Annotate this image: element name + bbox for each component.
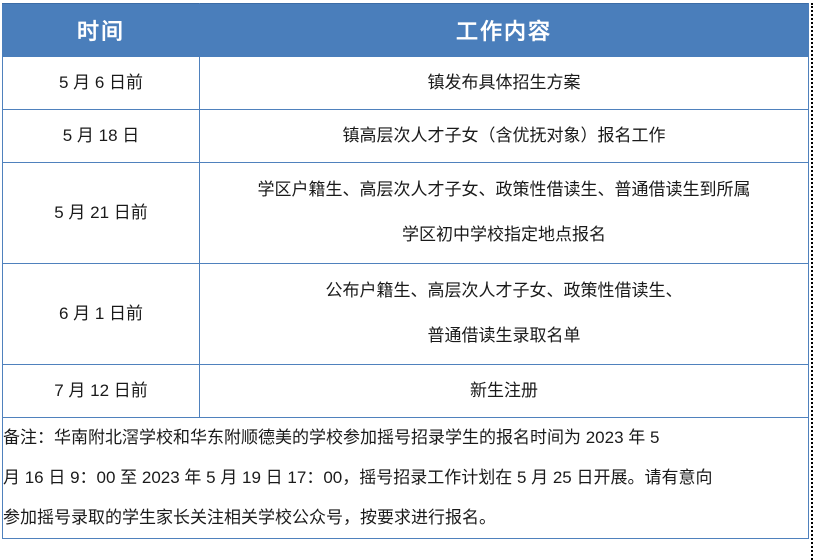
cell-content-line: 镇高层次人才子女（含优抚对象）报名工作 xyxy=(200,125,808,148)
column-header-content: 工作内容 xyxy=(200,4,809,57)
cell-content-line: 学区户籍生、高层次人才子女、政策性借读生、普通借读生到所属 xyxy=(200,179,808,202)
document-page: 时间 工作内容 5 月 6 日前 镇发布具体招生方案 5 月 18 日 镇高层次… xyxy=(0,3,813,560)
cell-time: 5 月 21 日前 xyxy=(3,163,200,264)
table-row: 5 月 18 日 镇高层次人才子女（含优抚对象）报名工作 xyxy=(3,110,809,163)
remark-line: 备注：华南附北滘学校和华东附顺德美的学校参加摇号招录学生的报名时间为 2023 … xyxy=(3,427,808,449)
table-row: 5 月 6 日前 镇发布具体招生方案 xyxy=(3,57,809,110)
table-row: 7 月 12 日前 新生注册 xyxy=(3,365,809,418)
cell-time: 6 月 1 日前 xyxy=(3,264,200,365)
cell-content-line: 镇发布具体招生方案 xyxy=(200,72,808,95)
remark-note: 备注：华南附北滘学校和华东附顺德美的学校参加摇号招录学生的报名时间为 2023 … xyxy=(3,418,809,539)
cell-content: 镇高层次人才子女（含优抚对象）报名工作 xyxy=(200,110,809,163)
cell-content-line: 公布户籍生、高层次人才子女、政策性借读生、 xyxy=(200,280,808,303)
cell-time: 7 月 12 日前 xyxy=(3,365,200,418)
cell-content: 镇发布具体招生方案 xyxy=(200,57,809,110)
cell-content-line: 学区初中学校指定地点报名 xyxy=(200,224,808,247)
cell-content-line: 普通借读生录取名单 xyxy=(200,325,808,348)
cell-content: 公布户籍生、高层次人才子女、政策性借读生、 普通借读生录取名单 xyxy=(200,264,809,365)
table-row: 5 月 21 日前 学区户籍生、高层次人才子女、政策性借读生、普通借读生到所属 … xyxy=(3,163,809,264)
cell-time: 5 月 18 日 xyxy=(3,110,200,163)
column-header-time: 时间 xyxy=(3,4,200,57)
remark-line: 参加摇号录取的学生家长关注相关学校公众号，按要求进行报名。 xyxy=(3,507,808,529)
remark-line: 月 16 日 9：00 至 2023 年 5 月 19 日 17：00，摇号招录… xyxy=(3,467,808,489)
cell-content: 学区户籍生、高层次人才子女、政策性借读生、普通借读生到所属 学区初中学校指定地点… xyxy=(200,163,809,264)
table-row: 6 月 1 日前 公布户籍生、高层次人才子女、政策性借读生、 普通借读生录取名单 xyxy=(3,264,809,365)
cell-content: 新生注册 xyxy=(200,365,809,418)
cell-content-line: 新生注册 xyxy=(200,380,808,403)
table-note-row: 备注：华南附北滘学校和华东附顺德美的学校参加摇号招录学生的报名时间为 2023 … xyxy=(3,418,809,539)
cell-time: 5 月 6 日前 xyxy=(3,57,200,110)
table-header-row: 时间 工作内容 xyxy=(3,4,809,57)
enrollment-schedule-table: 时间 工作内容 5 月 6 日前 镇发布具体招生方案 5 月 18 日 镇高层次… xyxy=(2,3,809,539)
